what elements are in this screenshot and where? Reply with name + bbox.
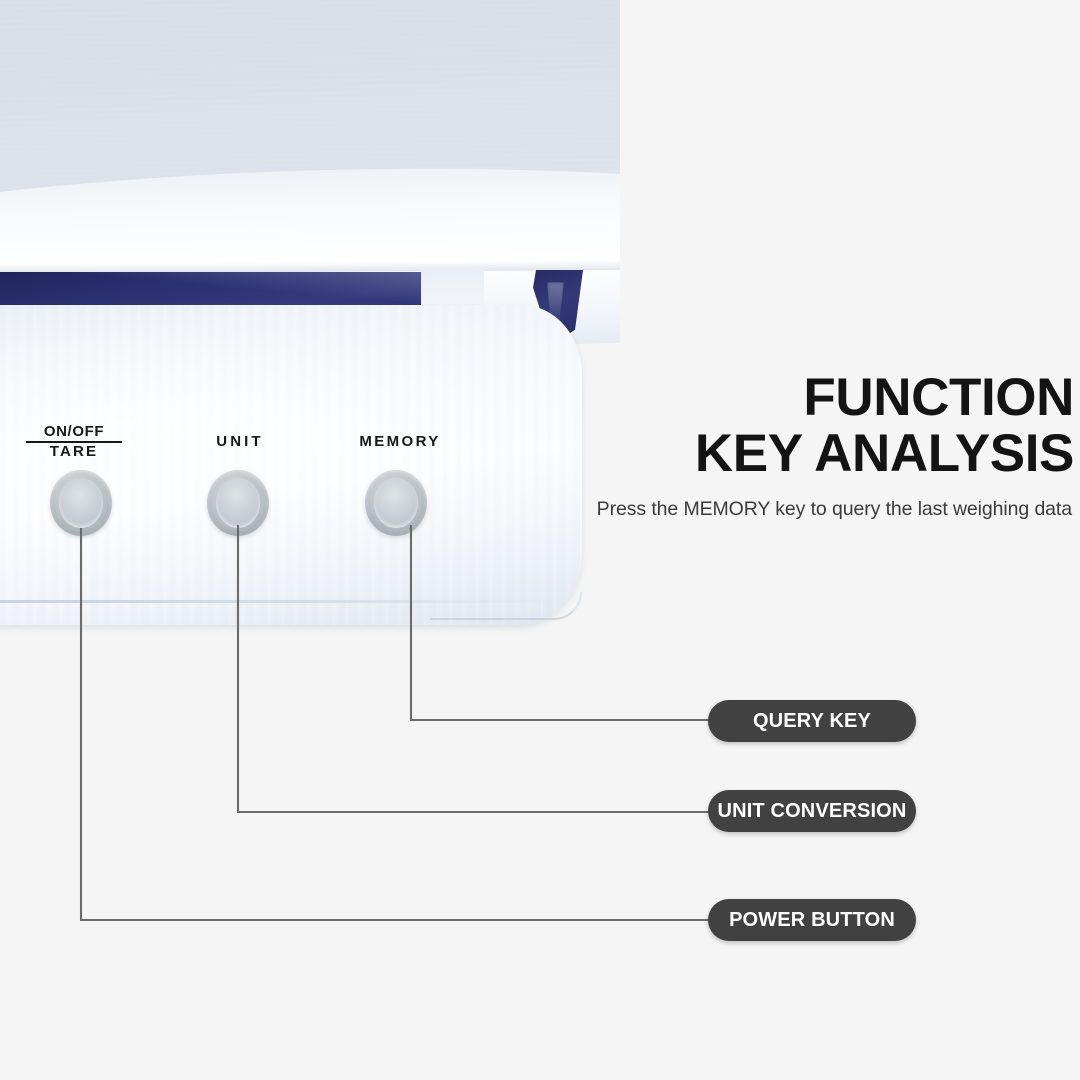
key-label-onoff-top: ON/OFF xyxy=(26,424,122,443)
key-label-onoff-bottom: TARE xyxy=(26,443,122,460)
infographic-canvas: ON/OFF TARE UNIT MEMORY FUNCTION KEY ANA… xyxy=(0,0,1080,1080)
callout-pill-unit-conversion[interactable]: UNIT CONVERSION xyxy=(708,790,916,832)
key-dish xyxy=(59,478,104,528)
callout-pill-power-button[interactable]: POWER BUTTON xyxy=(708,899,916,941)
page-subtitle: Press the MEMORY key to query the last w… xyxy=(452,498,1072,521)
power-tare-key-button[interactable] xyxy=(50,470,112,536)
key-dish xyxy=(374,478,419,528)
key-label-unit: UNIT xyxy=(193,434,287,450)
page-title-line-1: FUNCTION xyxy=(803,368,1074,427)
page-title-line-2: KEY ANALYSIS xyxy=(434,426,1074,482)
memory-key-button[interactable] xyxy=(365,470,427,536)
key-label-onoff-tare: ON/OFF TARE xyxy=(26,424,122,460)
panel-corner-seam xyxy=(430,592,582,620)
page-title: FUNCTION KEY ANALYSIS xyxy=(434,370,1074,482)
key-dish xyxy=(216,478,261,528)
product-photo: ON/OFF TARE UNIT MEMORY xyxy=(0,0,620,640)
callout-pill-query-key[interactable]: QUERY KEY xyxy=(708,700,916,742)
unit-key-button[interactable] xyxy=(207,470,269,536)
